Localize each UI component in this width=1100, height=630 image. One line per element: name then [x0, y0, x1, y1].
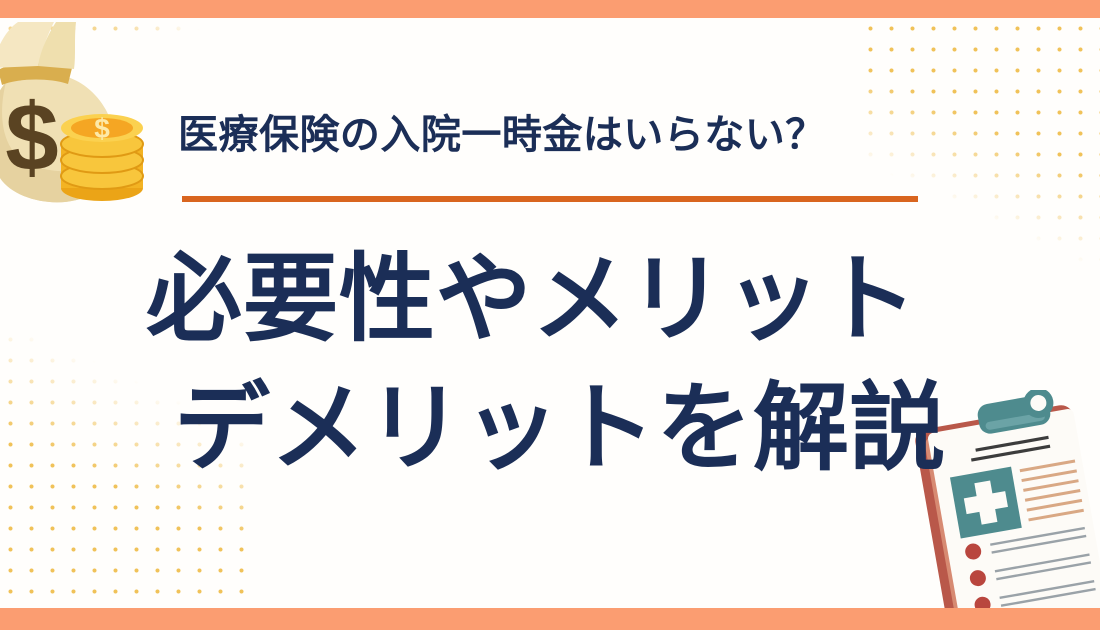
money-bag-and-coins-icon: $ $ [0, 22, 164, 212]
headline-line-1: 必要性やメリット [146, 236, 1026, 365]
svg-text:$: $ [94, 113, 110, 144]
bottom-accent-bar [0, 608, 1100, 630]
title-underline-rule [182, 196, 918, 202]
headline-line-2: デメリットを解説 [146, 365, 1026, 494]
banner-headline: 必要性やメリット デメリットを解説 [146, 236, 1026, 493]
banner-canvas: $ $ [0, 0, 1100, 630]
banner-subtitle: 医療保険の入院一時金はいらない？ [178, 112, 938, 159]
top-accent-bar [0, 0, 1100, 18]
svg-text:$: $ [5, 84, 58, 191]
